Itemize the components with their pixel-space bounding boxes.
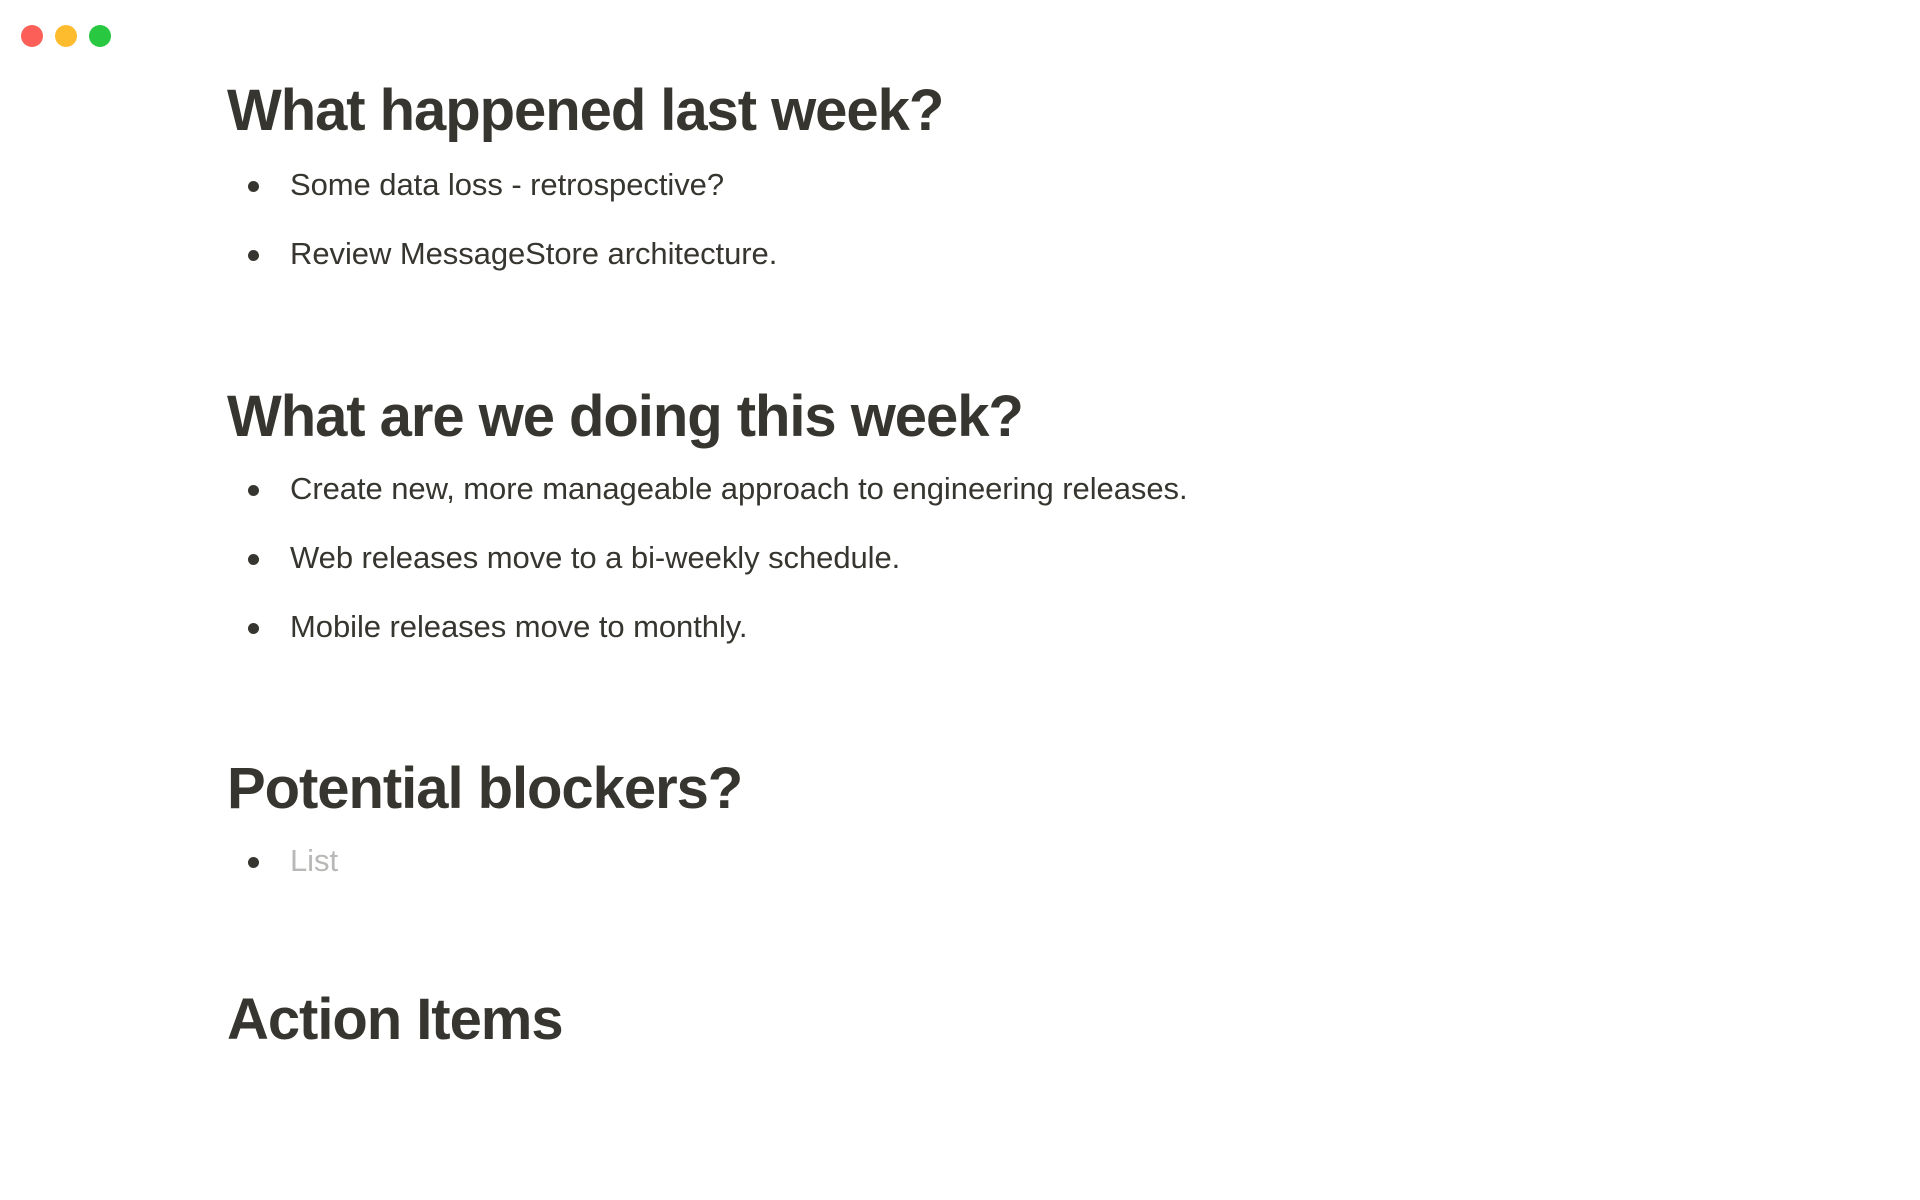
bullet-icon [248,181,259,192]
bullet-icon [248,250,259,261]
list-item[interactable]: Review MessageStore architecture. [227,235,1920,274]
bullet-list-last-week: Some data loss - retrospective? Review M… [227,166,1920,274]
section-heading-action-items[interactable]: Action Items [227,988,1920,1053]
bullet-list-blockers: List [227,842,1920,881]
list-item-label: Web releases move to a bi-weekly schedul… [290,540,900,575]
list-item[interactable]: Mobile releases move to monthly. [227,608,1920,647]
section-heading-what-are-we-doing-this-week[interactable]: What are we doing this week? [227,385,1920,450]
list-item[interactable]: Some data loss - retrospective? [227,166,1920,205]
bullet-icon [248,554,259,565]
list-item-placeholder: List [290,843,338,878]
list-item-label: Create new, more manageable approach to … [290,471,1188,506]
close-window-button[interactable] [21,25,43,47]
list-item-label: Review MessageStore architecture. [290,236,777,271]
maximize-window-button[interactable] [89,25,111,47]
window-controls [21,25,111,47]
title-bar [0,0,1920,62]
list-item-label: Mobile releases move to monthly. [290,609,747,644]
bullet-icon [248,623,259,634]
document-content[interactable]: What happened last week? Some data loss … [0,62,1920,1200]
minimize-window-button[interactable] [55,25,77,47]
list-item[interactable]: Web releases move to a bi-weekly schedul… [227,539,1920,578]
bullet-icon [248,857,259,868]
app-window: What happened last week? Some data loss … [0,0,1920,1200]
section-heading-what-happened-last-week[interactable]: What happened last week? [227,79,1920,144]
bullet-icon [248,485,259,496]
bullet-list-this-week: Create new, more manageable approach to … [227,470,1920,646]
list-item-label: Some data loss - retrospective? [290,167,724,202]
list-item[interactable]: Create new, more manageable approach to … [227,470,1920,509]
section-heading-potential-blockers[interactable]: Potential blockers? [227,757,1920,822]
list-item[interactable]: List [227,842,1920,881]
